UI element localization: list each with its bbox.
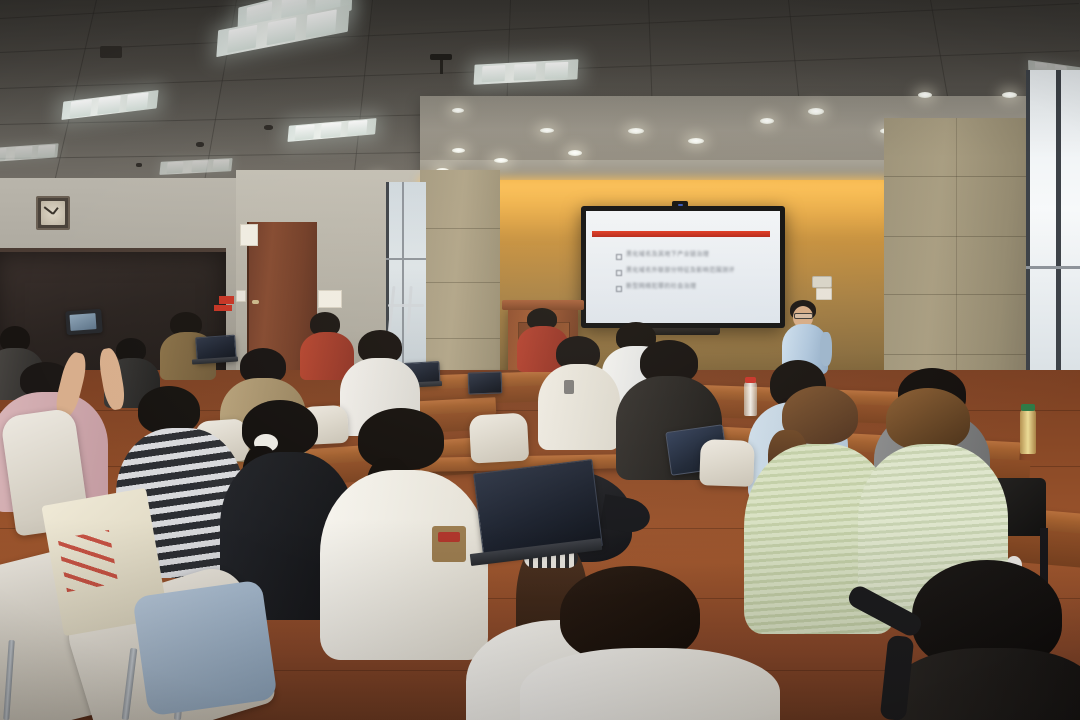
presenter-arm — [820, 332, 832, 366]
downlight — [628, 128, 644, 134]
downlight — [452, 108, 464, 113]
torso — [538, 364, 620, 450]
projector-mount — [430, 54, 452, 60]
bottle-cap — [745, 377, 756, 383]
light-switch[interactable] — [236, 290, 246, 302]
warning-label — [214, 305, 232, 311]
downlight — [494, 158, 508, 163]
downlight — [760, 118, 774, 124]
laptop-screen — [468, 371, 503, 394]
chair[interactable] — [699, 439, 755, 487]
hair — [886, 388, 970, 450]
presentation-display[interactable]: 黑化域名及其地下产业链治理 黑化域名外联部分特征及影响范围测评 新型网络犯罪的社… — [581, 206, 785, 328]
slide-body-line: 黑化域名及其地下产业链治理 — [626, 252, 709, 258]
notice-sheet — [240, 224, 258, 246]
torso — [320, 470, 488, 660]
bottle-cap — [1021, 404, 1035, 411]
camera-screen — [69, 313, 96, 331]
slide-body-line: 黑化域名外联部分特征及影响范围测评 — [626, 268, 735, 274]
downlight — [688, 138, 704, 144]
denim-jacket — [132, 580, 277, 717]
slide-bullet-icon — [616, 286, 622, 292]
patch-logo-icon — [438, 532, 460, 542]
slide-bullet-icon — [616, 270, 622, 276]
shirt-lettering — [564, 380, 574, 394]
hair — [138, 386, 200, 434]
clock-face — [41, 201, 65, 225]
slide-bullet-icon — [616, 254, 622, 260]
water-bottle — [744, 382, 757, 416]
sprinkler-head — [136, 163, 142, 167]
presenter-glasses-icon — [794, 313, 813, 319]
clock-hour-hand — [52, 207, 59, 215]
wall-clock — [36, 196, 70, 230]
tote-bag-print — [58, 530, 119, 592]
door-handle[interactable] — [252, 300, 259, 304]
lecture-hall-photo: 黑化域名及其地下产业链治理 黑化域名外联部分特征及影响范围测评 新型网络犯罪的社… — [0, 0, 1080, 720]
downlight — [918, 92, 932, 98]
projector-mount-stem — [440, 58, 443, 74]
display-stand — [648, 328, 720, 335]
warning-label — [219, 296, 234, 304]
slide-body-line: 新型网络犯罪的社会治理 — [626, 284, 696, 290]
chair[interactable] — [469, 413, 529, 464]
torso — [520, 648, 780, 720]
downlight — [540, 128, 554, 133]
downlight — [452, 148, 465, 153]
speaker-box — [100, 46, 122, 58]
wall-speaker — [812, 276, 832, 288]
notice-sheet — [318, 290, 342, 308]
downlight — [568, 150, 582, 156]
wall-socket — [816, 288, 832, 300]
downlight — [808, 108, 824, 115]
slide: 黑化域名及其地下产业链治理 黑化域名外联部分特征及影响范围测评 新型网络犯罪的社… — [586, 211, 780, 323]
slide-accent-bar — [592, 231, 770, 237]
downlight — [1002, 92, 1017, 98]
smoke-sensor — [196, 142, 204, 147]
torso — [894, 648, 1080, 720]
water-bottle — [1020, 410, 1036, 454]
smoke-sensor — [264, 125, 273, 130]
clock-minute-hand — [44, 207, 54, 215]
